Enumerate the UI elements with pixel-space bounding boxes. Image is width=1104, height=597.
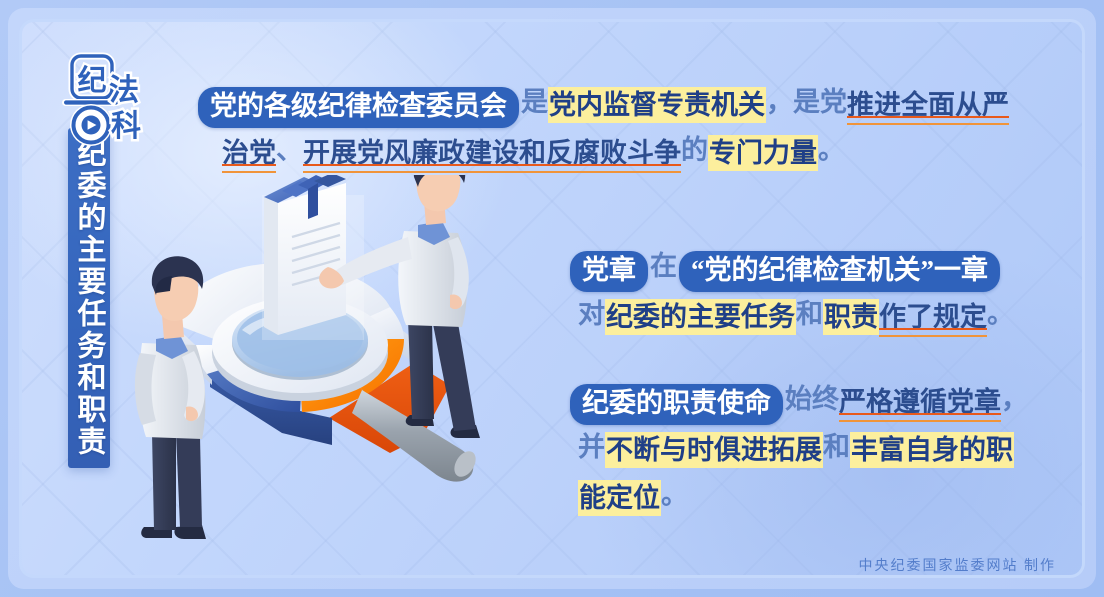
highlight-text: 党内监督专责机关 [548,87,766,123]
plain-text: 在 [650,251,677,281]
underline-text: 严格遵循党章 [839,384,1001,420]
plain-text: ，是党 [766,87,847,117]
plain-text: 、 [276,135,303,165]
paragraph-3-line-2: 并不断与时俱进拓展和丰富自身的职 [568,423,1028,471]
brand-logo: 纪 法 科 [58,52,150,152]
underline-text: 推进全面从严 [847,87,1009,123]
highlight-text: 纪委的主要任务 [605,299,796,335]
paragraph-2: 党章在“党的纪律检查机关”一章 对纪委的主要任务和职责作了规定。 [568,242,1014,338]
poster-canvas: 纪 法 科 纪委的主要任务和职责 [0,0,1104,597]
paragraph-2-line-1: 党章在“党的纪律检查机关”一章 [568,242,1014,290]
vertical-title: 纪委的主要任务和职责 [68,128,110,468]
person-left [135,256,206,539]
paragraph-1-line-1: 党的各级纪律检查委员会是党内监督专责机关，是党推进全面从严 [196,78,1009,126]
plain-text: 和 [823,432,850,462]
plain-text: 。 [818,135,845,165]
highlight-text: 职责 [823,299,879,335]
underline-text: 开展党风廉政建设和反腐败斗争 [303,135,681,171]
underline-text: 作了规定 [879,299,987,335]
highlight-text: 专门力量 [708,135,818,171]
svg-text:科: 科 [111,110,141,143]
paragraph-3: 纪委的职责使命始终严格遵循党章， 并不断与时俱进拓展和丰富自身的职 能定位。 [568,375,1028,519]
highlight-text: 丰富自身的职 [850,432,1014,468]
plain-text: ， [1001,384,1028,414]
paragraph-3-line-1: 纪委的职责使命始终严格遵循党章， [568,375,1028,423]
isometric-illustration [132,175,562,565]
paragraph-1-line-2: 治党、开展党风廉政建设和反腐败斗争的专门力量。 [196,126,1009,174]
plain-text: 。 [987,299,1014,329]
open-book [262,175,364,340]
plain-text: 是 [521,87,548,117]
pill-badge: 党章 [570,251,648,292]
plain-text: 和 [796,299,823,329]
plain-text: 始终 [785,384,839,414]
svg-text:纪: 纪 [77,64,106,97]
paragraph-3-line-3: 能定位。 [568,471,1028,519]
plain-text: 并 [578,432,605,462]
pill-badge: 纪委的职责使命 [570,384,783,425]
paragraph-2-line-2: 对纪委的主要任务和职责作了规定。 [568,290,1014,338]
plain-text: 的 [681,135,708,165]
plain-text: 对 [578,299,605,329]
paragraph-1: 党的各级纪律检查委员会是党内监督专责机关，是党推进全面从严 治党、开展党风廉政建… [196,78,1009,174]
highlight-text: 不断与时俱进拓展 [605,432,823,468]
svg-text:法: 法 [109,74,139,107]
plain-text: 。 [661,480,688,510]
highlight-text: 能定位 [578,480,661,516]
pill-badge: “党的纪律检查机关”一章 [679,251,1000,292]
underline-text: 治党 [222,135,276,171]
pill-badge: 党的各级纪律检查委员会 [198,87,519,128]
footer-credit: 中央纪委国家监委网站 制作 [859,555,1057,575]
